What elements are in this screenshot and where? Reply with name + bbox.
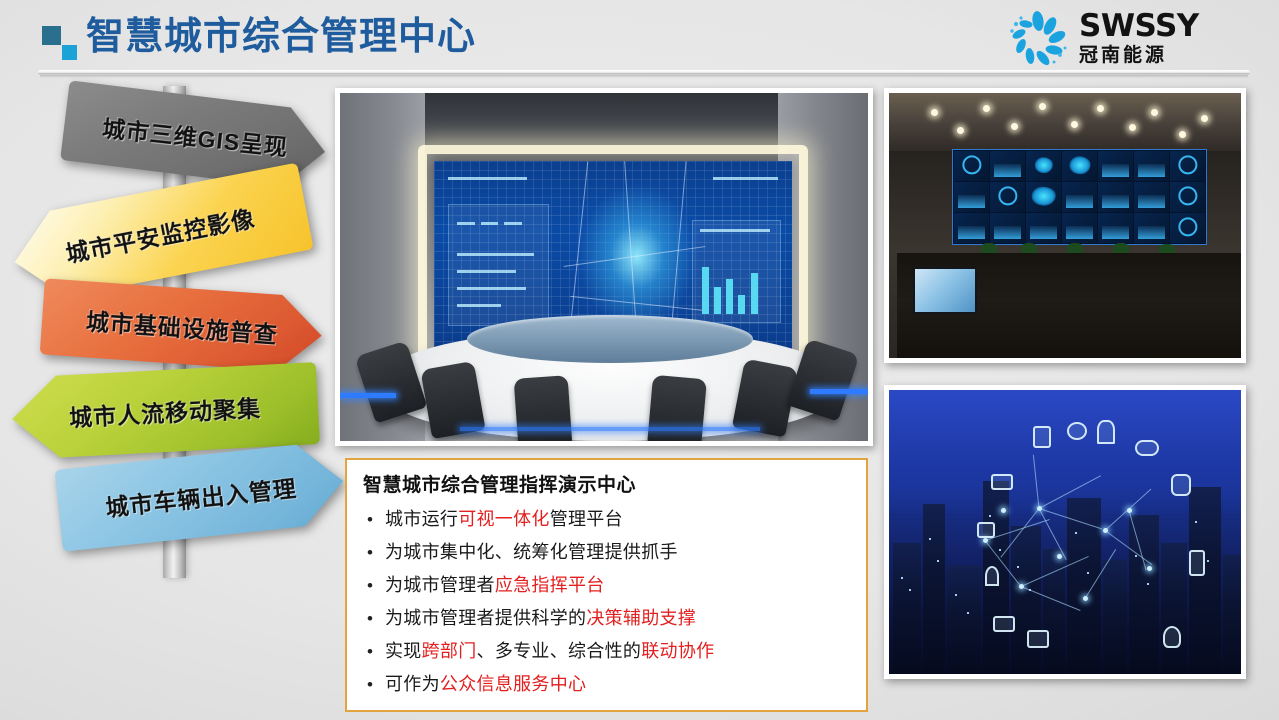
cart-icon — [991, 474, 1013, 490]
sign-city-vehicle-access[interactable]: 城市车辆出入管理 — [54, 440, 347, 551]
textbox-heading: 智慧城市综合管理指挥演示中心 — [363, 472, 850, 500]
plain-text: 实现 — [385, 641, 422, 661]
building-icon — [1033, 426, 1051, 448]
bulb-icon — [1163, 626, 1181, 648]
sign-city-infrastructure-survey[interactable]: 城市基础设施普查 — [40, 278, 325, 373]
bullet-item: •为城市管理者提供科学的决策辅助支撑 — [363, 602, 850, 635]
house-icon — [977, 522, 995, 538]
page-title: 智慧城市综合管理中心 — [86, 13, 476, 61]
bullet-item: •实现跨部门、多专业、综合性的联动协作 — [363, 635, 850, 668]
bullet-text: 实现跨部门、多专业、综合性的联动协作 — [385, 635, 714, 668]
bullet-text: 为城市管理者提供科学的决策辅助支撑 — [385, 602, 696, 635]
device-icon — [1189, 550, 1205, 576]
square-light-icon — [62, 45, 77, 60]
company-logo: SWSSY 冠南能源 — [1007, 8, 1257, 70]
tower-icon — [1097, 420, 1115, 444]
bullet-marker: • — [363, 668, 385, 701]
bullet-marker: • — [363, 536, 385, 569]
highlight-text: 决策辅助支撑 — [586, 608, 696, 628]
highlight-text: 可视一体化 — [458, 509, 550, 529]
highlight-text: 公众信息服务中心 — [440, 674, 586, 694]
photo-monitoring-room-image — [889, 93, 1241, 358]
logo-brand-name: SWSSY — [1079, 10, 1257, 43]
cloud-icon — [1067, 422, 1087, 440]
bullet-marker: • — [363, 569, 385, 602]
bullet-marker: • — [363, 635, 385, 668]
plain-text: 为城市集中化、统筹化管理提供抓手 — [385, 542, 678, 562]
header-divider — [38, 70, 1250, 75]
bullet-item: •为城市管理者应急指挥平台 — [363, 569, 850, 602]
logo-brand-sub: 冠南能源 — [1079, 44, 1257, 68]
plain-text: 为城市管理者 — [385, 575, 495, 595]
plain-text: 管理平台 — [550, 509, 623, 529]
slide-canvas: 智慧城市综合管理中心 SWSSY 冠南能源 — [0, 0, 1279, 720]
description-textbox: 智慧城市综合管理指挥演示中心 •城市运行可视一体化管理平台•为城市集中化、统筹化… — [345, 458, 868, 712]
highlight-text: 应急指挥平台 — [495, 575, 605, 595]
monitoring-video-wall — [952, 149, 1207, 245]
water-droplet-logo-icon — [1007, 10, 1069, 68]
plain-text: 城市运行 — [385, 509, 458, 529]
photo-command-center[interactable] — [335, 88, 873, 446]
screen-icon — [1027, 630, 1049, 648]
bullet-text: 可作为公众信息服务中心 — [385, 668, 586, 701]
plain-text: 、多专业、综合性的 — [477, 641, 642, 661]
car-icon — [1135, 440, 1159, 456]
bullet-item: •为城市集中化、统筹化管理提供抓手 — [363, 536, 850, 569]
bullet-marker: • — [363, 602, 385, 635]
logo-text-block: SWSSY 冠南能源 — [1079, 10, 1257, 68]
bullet-text: 城市运行可视一体化管理平台 — [385, 503, 623, 536]
signpost-graphic: 城市三维GIS呈现 城市平安监控影像 城市基础设施普查 城市人流移动聚集 城市车… — [0, 80, 340, 580]
highlight-text: 跨部门 — [422, 641, 477, 661]
highlight-text: 联动协作 — [641, 641, 714, 661]
photo-monitoring-room[interactable] — [884, 88, 1246, 363]
bullet-text: 为城市集中化、统筹化管理提供抓手 — [385, 536, 678, 569]
photo-smart-city-iot[interactable] — [884, 385, 1246, 679]
plain-text: 为城市管理者提供科学的 — [385, 608, 586, 628]
antenna-icon — [985, 566, 999, 586]
photo-smart-city-iot-image — [889, 390, 1241, 674]
desktop-monitor — [913, 267, 977, 314]
bullet-marker: • — [363, 503, 385, 536]
photo-command-center-image — [340, 93, 868, 441]
laptop-icon — [993, 616, 1015, 632]
plain-text: 可作为 — [385, 674, 440, 694]
bullet-text: 为城市管理者应急指挥平台 — [385, 569, 605, 602]
train-icon — [1171, 474, 1191, 496]
sign-city-crowd-flow[interactable]: 城市人流移动聚集 — [10, 362, 320, 460]
textbox-bullet-list: •城市运行可视一体化管理平台•为城市集中化、统筹化管理提供抓手•为城市管理者应急… — [363, 503, 850, 701]
bullet-item: •城市运行可视一体化管理平台 — [363, 503, 850, 536]
square-dark-icon — [42, 26, 61, 45]
bullet-item: •可作为公众信息服务中心 — [363, 668, 850, 701]
